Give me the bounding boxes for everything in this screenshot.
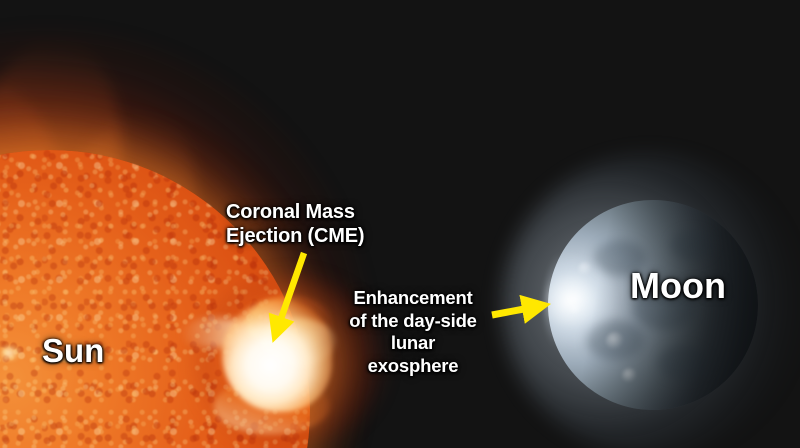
sun-prominence-a xyxy=(0,60,71,311)
cme-loop xyxy=(214,378,330,434)
sun-prominence-c xyxy=(32,96,218,343)
exosphere-annotation-label: Enhancement of the day-side lunar exosph… xyxy=(336,287,490,377)
sun-label: Sun xyxy=(42,331,104,371)
sun-prominence-b xyxy=(0,31,137,309)
solar-lunar-diagram: Sun Moon Coronal Mass Ejection (CME) Enh… xyxy=(0,0,800,448)
moon-label: Moon xyxy=(630,264,726,308)
cme-loop xyxy=(262,318,336,366)
sun-active-region xyxy=(0,346,22,360)
cme-annotation-label: Coronal Mass Ejection (CME) xyxy=(226,200,364,249)
